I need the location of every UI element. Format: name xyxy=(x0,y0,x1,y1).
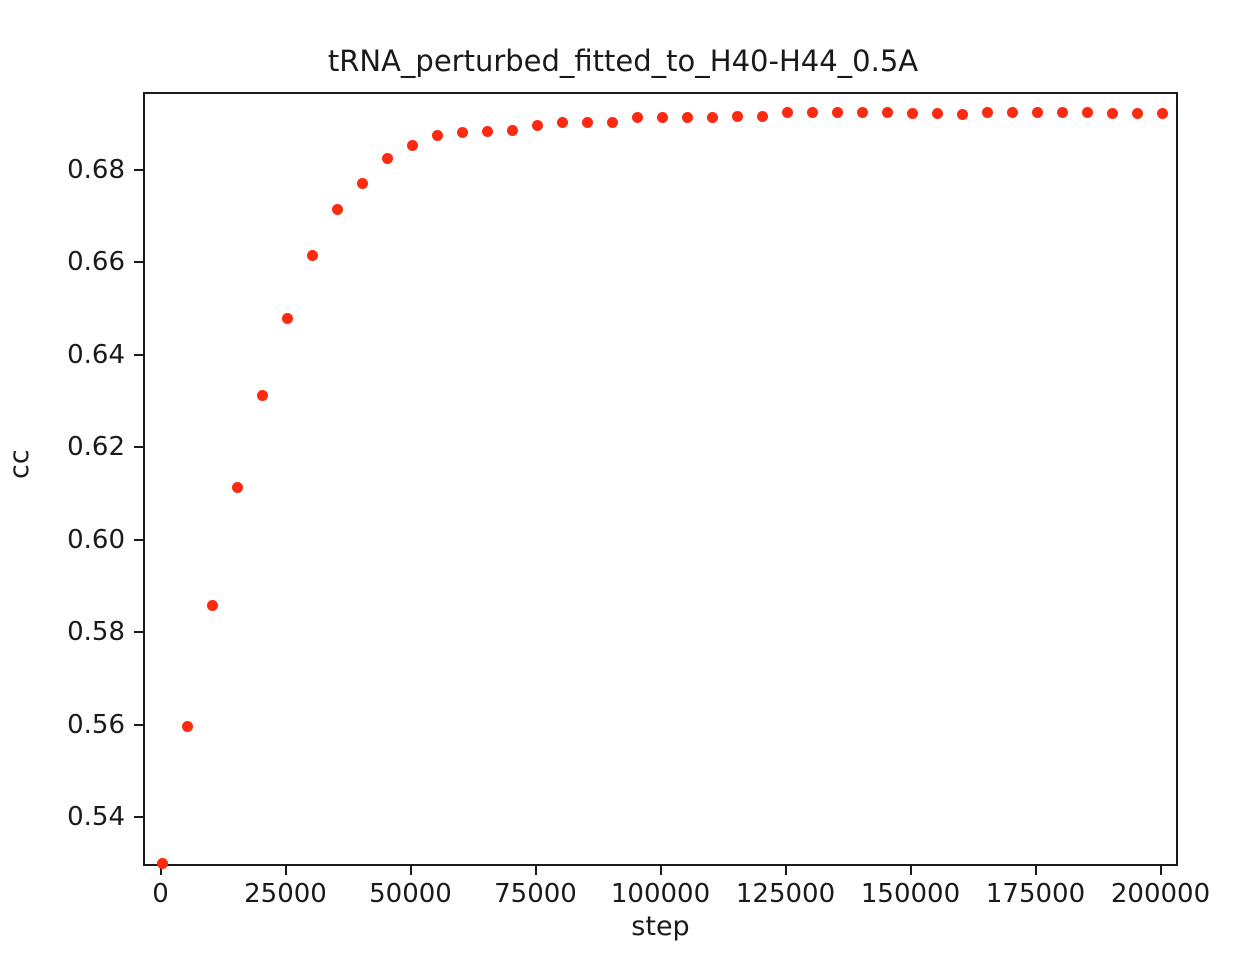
data-point xyxy=(1132,108,1143,119)
data-point xyxy=(582,117,593,128)
data-point xyxy=(832,107,843,118)
y-axis-tick-label: 0.58 xyxy=(67,619,125,645)
x-axis-tick xyxy=(785,866,787,875)
data-point xyxy=(882,107,893,118)
y-axis-tick-label: 0.62 xyxy=(67,434,125,460)
data-point xyxy=(857,107,868,118)
y-axis-tick-label: 0.64 xyxy=(67,342,125,368)
x-axis-label: step xyxy=(143,912,1178,942)
data-point xyxy=(1032,107,1043,118)
data-point xyxy=(732,111,743,122)
x-axis-tick xyxy=(1035,866,1037,875)
data-point xyxy=(782,107,793,118)
x-axis-tick-label: 175000 xyxy=(986,881,1085,907)
y-axis-tick xyxy=(134,446,143,448)
y-axis-tick xyxy=(134,354,143,356)
y-axis-tick-label: 0.56 xyxy=(67,712,125,738)
data-point xyxy=(557,117,568,128)
data-point xyxy=(1107,108,1118,119)
figure-canvas: tRNA_perturbed_fitted_to_H40-H44_0.5A cc… xyxy=(0,0,1246,965)
data-point xyxy=(507,125,518,136)
y-axis-tick-label: 0.68 xyxy=(67,157,125,183)
x-axis-tick-label: 0 xyxy=(152,881,169,907)
y-axis-tick-label: 0.60 xyxy=(67,527,125,553)
x-axis-tick xyxy=(1160,866,1162,875)
scatter-series-cc xyxy=(145,94,1176,864)
data-point xyxy=(157,858,168,869)
data-point xyxy=(382,153,393,164)
y-axis-tick xyxy=(134,539,143,541)
x-axis-tick-label: 150000 xyxy=(861,881,960,907)
data-point xyxy=(932,108,943,119)
x-axis-tick xyxy=(535,866,537,875)
data-point xyxy=(1057,107,1068,118)
x-axis-tick-label: 100000 xyxy=(611,881,710,907)
data-point xyxy=(757,111,768,122)
data-point xyxy=(1157,108,1168,119)
data-point xyxy=(682,112,693,123)
data-point xyxy=(182,721,193,732)
data-point xyxy=(457,127,468,138)
data-point xyxy=(1007,107,1018,118)
x-axis-tick-label: 25000 xyxy=(244,881,327,907)
page-title: tRNA_perturbed_fitted_to_H40-H44_0.5A xyxy=(0,44,1246,78)
data-point xyxy=(332,204,343,215)
x-axis-tick xyxy=(660,866,662,875)
y-axis-tick xyxy=(134,261,143,263)
data-point xyxy=(532,120,543,131)
y-axis-tick xyxy=(134,169,143,171)
data-point xyxy=(807,107,818,118)
data-point xyxy=(257,390,268,401)
data-point xyxy=(632,112,643,123)
x-axis-tick-label: 50000 xyxy=(369,881,452,907)
data-point xyxy=(207,600,218,611)
data-point xyxy=(657,112,668,123)
y-axis-tick xyxy=(134,724,143,726)
y-axis-tick xyxy=(134,631,143,633)
data-point xyxy=(282,313,293,324)
data-point xyxy=(357,178,368,189)
y-axis-label: cc xyxy=(6,449,33,479)
x-axis-tick-label: 125000 xyxy=(736,881,835,907)
y-axis-tick xyxy=(134,816,143,818)
y-axis-tick-label: 0.66 xyxy=(67,249,125,275)
x-axis-tick xyxy=(910,866,912,875)
data-point xyxy=(607,117,618,128)
data-point xyxy=(307,250,318,261)
data-point xyxy=(407,140,418,151)
x-axis-tick xyxy=(410,866,412,875)
data-point xyxy=(907,108,918,119)
x-axis-tick-label: 200000 xyxy=(1111,881,1210,907)
y-axis-tick-label: 0.54 xyxy=(67,804,125,830)
x-axis-tick-label: 75000 xyxy=(494,881,577,907)
data-point xyxy=(432,130,443,141)
data-point xyxy=(957,109,968,120)
x-axis-tick xyxy=(285,866,287,875)
plot-area xyxy=(143,92,1178,866)
data-point xyxy=(232,482,243,493)
data-point xyxy=(1082,107,1093,118)
data-point xyxy=(707,112,718,123)
data-point xyxy=(482,126,493,137)
data-point xyxy=(982,107,993,118)
